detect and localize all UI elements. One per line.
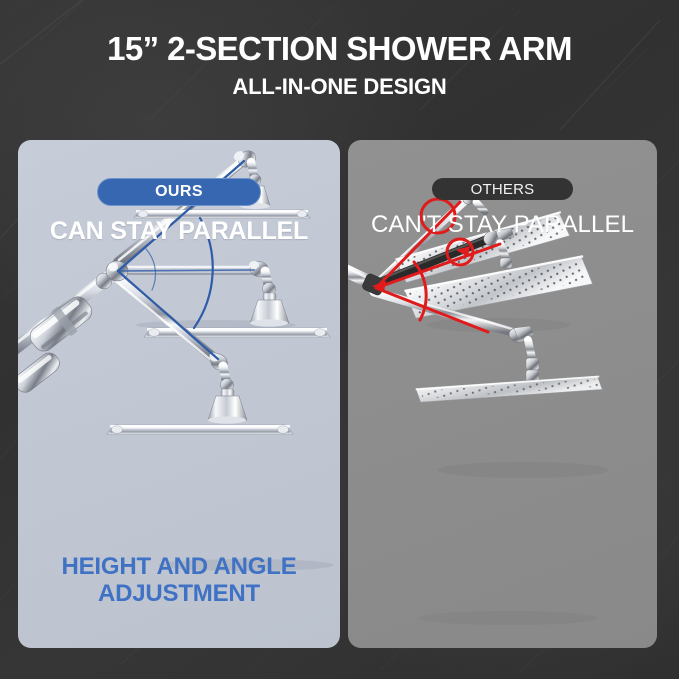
badge-others-label: OTHERS bbox=[471, 181, 535, 198]
shower-head-tilted-bottom bbox=[416, 375, 603, 402]
panel-others: OTHERS CAN'T STAY PARALLEL bbox=[348, 140, 657, 648]
product-comparison-graphic: 15” 2-SECTION SHOWER ARM ALL-IN-ONE DESI… bbox=[0, 0, 679, 679]
competitor-arm-lower bbox=[374, 289, 602, 402]
badge-ours[interactable]: OURS bbox=[97, 178, 261, 206]
shower-head-top bbox=[134, 210, 310, 218]
badge-others[interactable]: OTHERS bbox=[432, 178, 573, 200]
others-product-illustration bbox=[348, 140, 657, 648]
shower-arm-raised bbox=[118, 148, 310, 266]
badge-ours-label: OURS bbox=[155, 183, 203, 201]
shower-head-bottom bbox=[107, 425, 293, 434]
competitor-wall-mount bbox=[348, 264, 386, 296]
ours-product-illustration bbox=[18, 140, 340, 648]
panel-ours: OURS CAN STAY PARALLEL HEIGHT AND ANGLE … bbox=[18, 140, 340, 648]
wall-mount-diverter bbox=[18, 261, 128, 396]
